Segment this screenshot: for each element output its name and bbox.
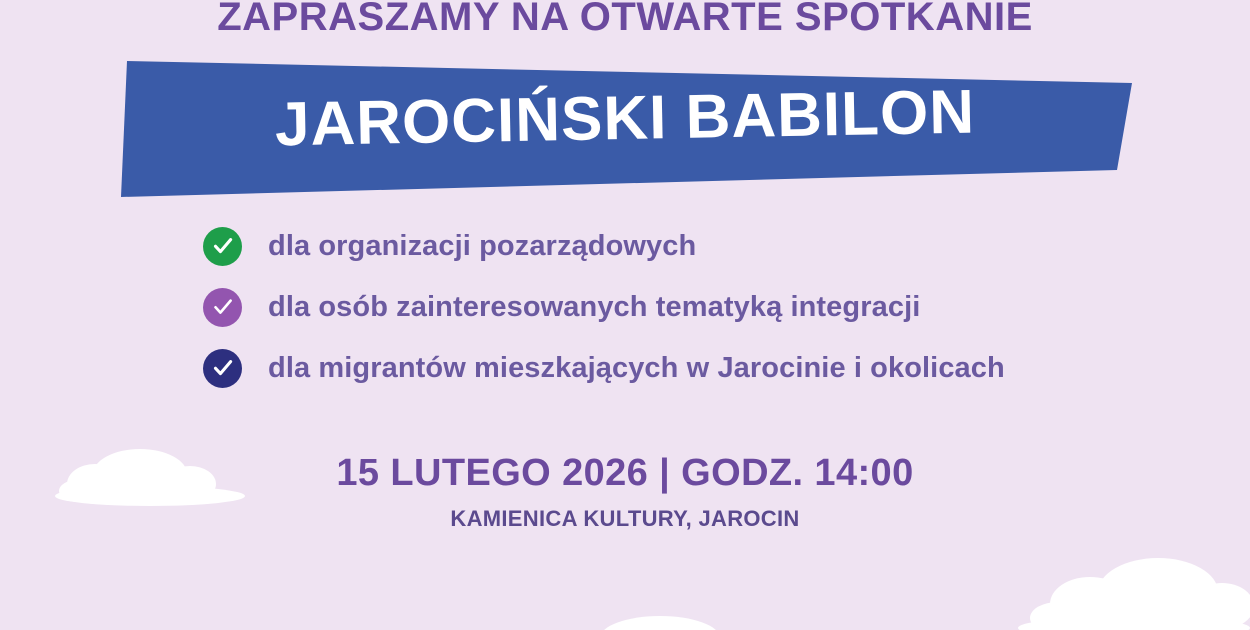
cloud-icon-center bbox=[600, 612, 720, 630]
check-circle-icon bbox=[203, 288, 242, 327]
event-venue: KAMIENICA KULTURY, JAROCIN bbox=[0, 506, 1250, 532]
list-item-label: dla osób zainteresowanych tematyką integ… bbox=[268, 291, 920, 324]
list-item-label: dla organizacji pozarządowych bbox=[268, 230, 696, 263]
check-circle-icon bbox=[203, 349, 242, 388]
poster-canvas: ZAPRASZAMY NA OTWARTE SPOTKANIE JAROCIŃS… bbox=[0, 0, 1250, 630]
list-item: dla migrantów mieszkających w Jarocinie … bbox=[203, 344, 1203, 392]
check-circle-icon bbox=[203, 227, 242, 266]
cloud-icon-right bbox=[1018, 548, 1250, 630]
event-datetime: 15 LUTEGO 2026 | GODZ. 14:00 bbox=[0, 452, 1250, 495]
list-item: dla osób zainteresowanych tematyką integ… bbox=[203, 283, 1203, 331]
banner: JAROCIŃSKI BABILON bbox=[0, 0, 1250, 210]
list-item: dla organizacji pozarządowych bbox=[203, 222, 1203, 270]
list-item-label: dla migrantów mieszkających w Jarocinie … bbox=[268, 352, 1005, 385]
benefits-list: dla organizacji pozarządowych dla osób z… bbox=[203, 222, 1203, 405]
